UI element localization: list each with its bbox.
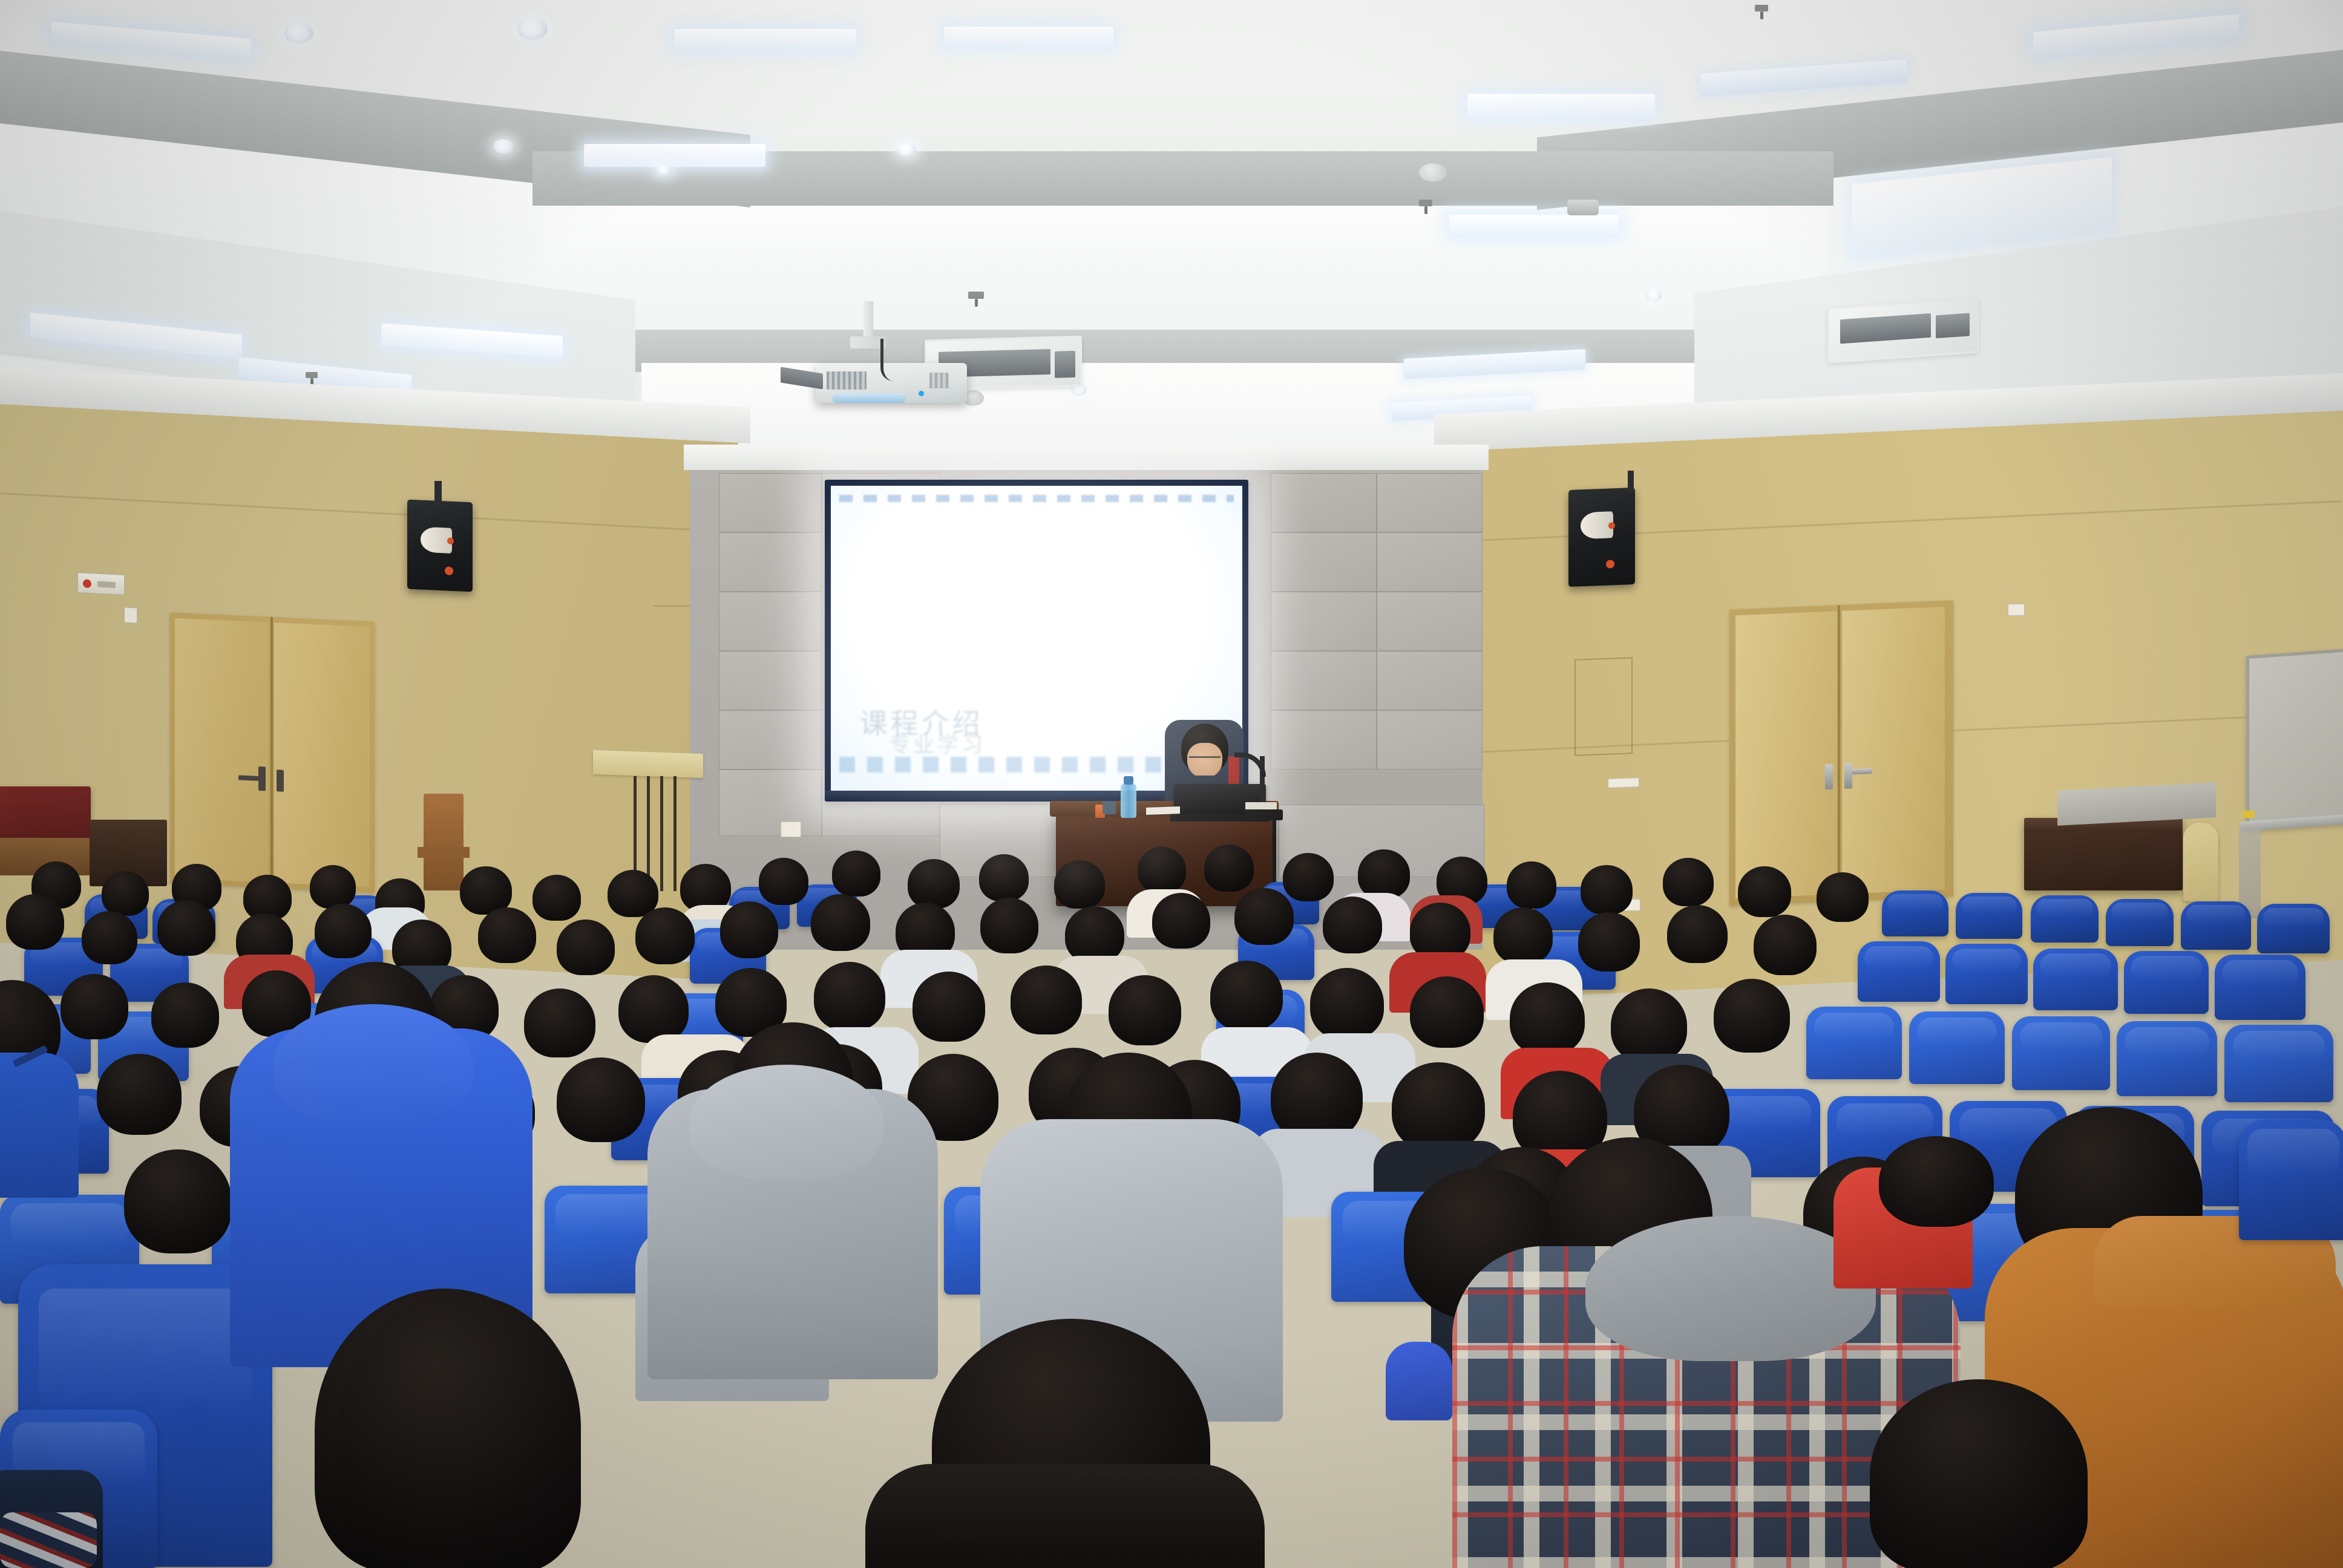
audience-member bbox=[1663, 858, 1714, 906]
hood bbox=[690, 1065, 883, 1180]
door-handle[interactable] bbox=[1844, 763, 1852, 789]
audience-member bbox=[618, 975, 689, 1043]
recessed-downlight bbox=[284, 23, 313, 44]
hood bbox=[274, 1004, 473, 1125]
audience-member bbox=[1510, 982, 1585, 1055]
audience-member bbox=[1667, 905, 1728, 963]
fire-sprinkler bbox=[968, 292, 984, 299]
fire-sprinkler bbox=[306, 372, 318, 378]
auditorium-seat[interactable] bbox=[2181, 901, 2251, 950]
recessed-downlight bbox=[517, 18, 548, 40]
door-handle[interactable] bbox=[238, 775, 259, 781]
auditorium-seat[interactable] bbox=[2033, 949, 2118, 1010]
slide-subtitle-text: 专业学习 bbox=[888, 727, 985, 759]
audience-member bbox=[524, 988, 595, 1057]
audience-member bbox=[1234, 888, 1294, 945]
acoustic-wall-panel bbox=[1271, 473, 1377, 532]
audience-member bbox=[339, 1295, 581, 1568]
whiteboard-marker[interactable] bbox=[2243, 811, 2255, 818]
auditorium-seat[interactable] bbox=[2124, 951, 2209, 1014]
auditorium-seat[interactable] bbox=[2031, 895, 2099, 942]
acoustic-wall-panel bbox=[719, 769, 822, 836]
audience-member bbox=[0, 1053, 79, 1198]
audience-member bbox=[1271, 1053, 1363, 1141]
audience-member bbox=[1358, 849, 1410, 899]
audience-member bbox=[608, 870, 658, 917]
audience-member bbox=[832, 851, 880, 897]
audience-member bbox=[720, 901, 778, 958]
slide-header-line bbox=[839, 495, 1234, 502]
paper-notes bbox=[1245, 802, 1277, 809]
wooden-double-door[interactable] bbox=[170, 612, 375, 892]
audience-member bbox=[557, 1057, 645, 1142]
auditorium-seat[interactable] bbox=[2224, 1025, 2333, 1102]
wooden-double-door[interactable] bbox=[1729, 600, 1953, 906]
audience-member bbox=[865, 1464, 1265, 1568]
auditorium-seat[interactable] bbox=[1882, 890, 1948, 936]
audience-member bbox=[635, 907, 695, 964]
audience-member bbox=[310, 865, 356, 909]
audience-member bbox=[1065, 906, 1124, 963]
smoke-detector bbox=[1419, 163, 1447, 181]
audience-member bbox=[1879, 1136, 1994, 1227]
wooden-side-table bbox=[2024, 818, 2183, 890]
audience-member bbox=[1817, 872, 1869, 922]
audience-member bbox=[1323, 897, 1382, 953]
acoustic-wall-panel bbox=[1377, 532, 1483, 592]
auditorium-seat[interactable] bbox=[2239, 1119, 2343, 1240]
wall-socket[interactable] bbox=[124, 607, 137, 623]
wall-frame-outline bbox=[1575, 657, 1633, 756]
audience-member bbox=[811, 894, 870, 951]
fluorescent-light-panel bbox=[675, 29, 856, 51]
audience-member bbox=[97, 1054, 182, 1135]
audience-member bbox=[102, 871, 149, 916]
wall-socket[interactable] bbox=[2008, 604, 2025, 616]
acoustic-wall-panel bbox=[1271, 710, 1377, 769]
ceiling-cassette-air-conditioner bbox=[1827, 297, 1979, 363]
speaker-mount-bracket bbox=[1628, 471, 1634, 492]
door-handle[interactable] bbox=[1852, 768, 1872, 774]
light-switch-plate[interactable] bbox=[781, 822, 801, 837]
audience-member bbox=[908, 859, 960, 909]
microphone-base bbox=[1245, 809, 1283, 820]
audience-member bbox=[1210, 961, 1283, 1031]
glasses-icon bbox=[1189, 756, 1221, 762]
audience-member bbox=[82, 911, 137, 964]
audience-member bbox=[1581, 865, 1633, 915]
audience-member bbox=[315, 904, 372, 958]
audience-member bbox=[1054, 860, 1105, 909]
recessed-downlight bbox=[657, 165, 671, 175]
wall-mounted-loudspeaker bbox=[1568, 488, 1635, 587]
fluorescent-light-panel bbox=[1449, 215, 1619, 237]
recessed-downlight bbox=[1646, 290, 1662, 301]
electrical-control-panel[interactable] bbox=[77, 572, 125, 595]
red-wooden-bench bbox=[0, 786, 91, 844]
striped-sleeve bbox=[0, 1512, 97, 1568]
paper-notes bbox=[1146, 806, 1180, 815]
audience-member bbox=[61, 974, 128, 1039]
hood bbox=[1585, 1216, 1876, 1361]
auditorium-seat[interactable] bbox=[1858, 941, 1940, 1002]
wall-mounted-loudspeaker bbox=[407, 500, 473, 592]
acoustic-wall-panel bbox=[719, 473, 822, 532]
audience-member bbox=[478, 907, 536, 963]
wooden-chair-seat bbox=[418, 847, 470, 858]
auditorium-seat[interactable] bbox=[1909, 1011, 2005, 1084]
acoustic-wall-panel bbox=[1377, 651, 1483, 710]
acoustic-wall-panel bbox=[1271, 532, 1377, 592]
acoustic-wall-panel bbox=[1271, 651, 1377, 710]
audience-member bbox=[1754, 915, 1817, 975]
audience-member bbox=[1204, 844, 1254, 892]
audience-member bbox=[157, 900, 215, 956]
audience-member bbox=[1493, 907, 1553, 964]
water-bottle[interactable] bbox=[1121, 784, 1136, 818]
desk-object bbox=[1103, 801, 1116, 814]
auditorium-seat[interactable] bbox=[2117, 1021, 2217, 1096]
acoustic-wall-panel bbox=[719, 592, 822, 651]
auditorium-seat[interactable] bbox=[2215, 955, 2305, 1020]
front-cornice bbox=[684, 445, 1489, 470]
whiteboard bbox=[2246, 648, 2343, 831]
audience-member bbox=[1714, 979, 1790, 1053]
fire-sprinkler bbox=[1419, 200, 1432, 206]
recessed-downlight bbox=[897, 143, 916, 156]
wooden-chair bbox=[424, 794, 464, 890]
ceiling-cove-center bbox=[545, 200, 1827, 333]
acoustic-wall-panel bbox=[1271, 592, 1377, 651]
door-handle[interactable] bbox=[1825, 764, 1833, 790]
fluorescent-light-panel bbox=[584, 144, 765, 167]
auditorium-seat[interactable] bbox=[2257, 904, 2330, 953]
audience-member bbox=[1283, 853, 1334, 901]
acoustic-wall-panel bbox=[719, 710, 822, 769]
audience-member bbox=[980, 898, 1038, 953]
recessed-downlight bbox=[493, 139, 514, 154]
audience-member bbox=[1011, 965, 1082, 1034]
projector-cable bbox=[880, 339, 905, 381]
audience-member bbox=[532, 875, 581, 921]
audience-member bbox=[1738, 866, 1791, 917]
acoustic-wall-panel bbox=[719, 532, 822, 592]
door-handle[interactable] bbox=[258, 766, 266, 791]
smoke-detector bbox=[1567, 200, 1599, 215]
acoustic-wall-panel bbox=[1377, 473, 1483, 532]
speaker-mount-bracket bbox=[434, 481, 442, 504]
decorative-wall-trim-top bbox=[593, 750, 703, 778]
audience-member bbox=[1109, 975, 1181, 1045]
audience-member bbox=[979, 854, 1029, 901]
light-switch-plate[interactable] bbox=[1608, 777, 1639, 788]
auditorium-seat[interactable] bbox=[1945, 944, 2028, 1004]
audience-member bbox=[151, 982, 219, 1048]
audience-member bbox=[1578, 912, 1640, 972]
auditorium-seat[interactable] bbox=[1956, 893, 2022, 939]
audience-member bbox=[1870, 1379, 2088, 1568]
fire-sprinkler bbox=[1755, 5, 1768, 11]
audience-member bbox=[913, 972, 985, 1042]
audience-member bbox=[557, 920, 615, 975]
audience-member bbox=[1507, 861, 1556, 909]
audience-member bbox=[1410, 976, 1484, 1048]
audience-member bbox=[1310, 968, 1384, 1039]
audience-member bbox=[1611, 988, 1687, 1062]
acoustic-wall-panel bbox=[719, 651, 822, 710]
audience-member bbox=[759, 858, 808, 905]
fluorescent-light-panel bbox=[1467, 94, 1655, 117]
audience-member bbox=[124, 1149, 232, 1253]
audience-member bbox=[1138, 847, 1186, 893]
audience-member bbox=[814, 962, 885, 1031]
audience-member bbox=[1392, 1062, 1485, 1152]
auditorium-seat[interactable] bbox=[2012, 1016, 2110, 1090]
projector-mount-pole bbox=[863, 301, 873, 338]
auditorium-seat[interactable] bbox=[2106, 899, 2174, 946]
auditorium-seat[interactable] bbox=[1806, 1007, 1902, 1079]
lecture-hall-photo: 课程介绍 专业学习 bbox=[0, 0, 2343, 1568]
door-handle[interactable] bbox=[277, 769, 284, 792]
audience-member bbox=[1152, 893, 1210, 949]
acoustic-wall-panel bbox=[1377, 710, 1483, 769]
audience-member bbox=[6, 894, 64, 950]
fluorescent-light-panel bbox=[944, 27, 1113, 47]
cream-side-chair bbox=[2183, 823, 2218, 901]
acoustic-wall-panel bbox=[1377, 592, 1483, 651]
knit-hat bbox=[1386, 1342, 1452, 1420]
